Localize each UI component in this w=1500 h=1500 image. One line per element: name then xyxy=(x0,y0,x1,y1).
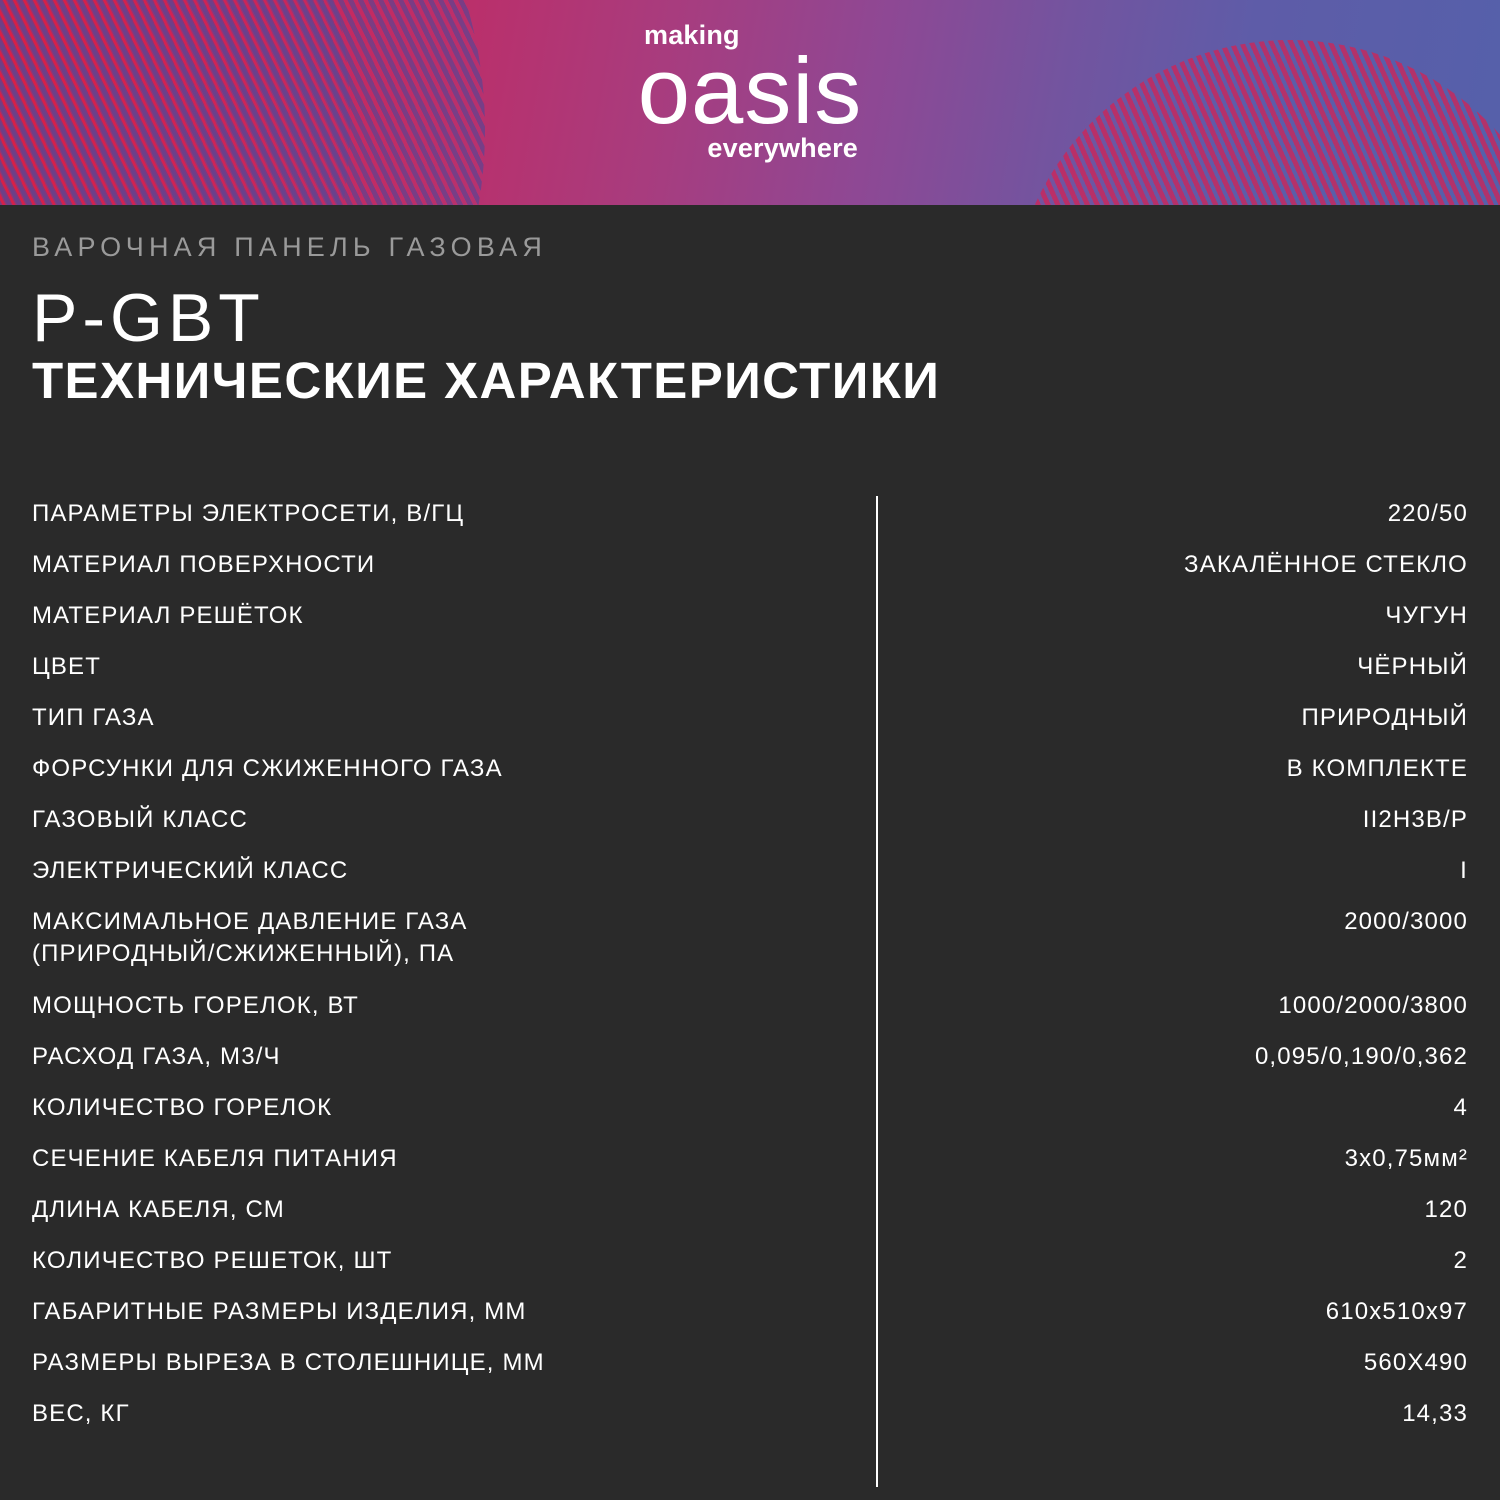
spec-value: 220/50 xyxy=(1388,497,1468,530)
spec-row: ТИП ГАЗАПРИРОДНЫЙ xyxy=(32,701,1468,752)
spec-label: КОЛИЧЕСТВО ГОРЕЛОК xyxy=(32,1091,332,1124)
spec-value: 2 xyxy=(1454,1244,1469,1277)
spec-row: ПАРАМЕТРЫ ЭЛЕКТРОСЕТИ, В/ГЦ220/50 xyxy=(32,497,1468,548)
striped-arc-right-decoration xyxy=(1010,40,1500,205)
spec-row: ЦВЕТЧЁРНЫЙ xyxy=(32,650,1468,701)
spec-value: 560X490 xyxy=(1364,1346,1468,1379)
spec-value: 0,095/0,190/0,362 xyxy=(1255,1040,1468,1073)
spec-label: ВЕС, КГ xyxy=(32,1397,130,1430)
title-block: ВАРОЧНАЯ ПАНЕЛЬ ГАЗОВАЯ P-GBT ТЕХНИЧЕСКИ… xyxy=(32,232,1432,407)
spec-label: МОЩНОСТЬ ГОРЕЛОК, ВТ xyxy=(32,989,359,1022)
spec-label: ЭЛЕКТРИЧЕСКИЙ КЛАСС xyxy=(32,854,348,887)
spec-label: СЕЧЕНИЕ КАБЕЛЯ ПИТАНИЯ xyxy=(32,1142,398,1175)
spec-value: ЧЁРНЫЙ xyxy=(1357,650,1468,683)
spec-label: КОЛИЧЕСТВО РЕШЕТОК, ШТ xyxy=(32,1244,392,1277)
spec-row: ФОРСУНКИ ДЛЯ СЖИЖЕННОГО ГАЗАВ КОМПЛЕКТЕ xyxy=(32,752,1468,803)
spec-label: ТИП ГАЗА xyxy=(32,701,155,734)
spec-value: В КОМПЛЕКТЕ xyxy=(1287,752,1468,785)
spec-row: РАСХОД ГАЗА, М3/Ч0,095/0,190/0,362 xyxy=(32,1040,1468,1091)
spec-value: 3x0,75мм² xyxy=(1345,1142,1468,1175)
spec-row: КОЛИЧЕСТВО РЕШЕТОК, ШТ2 xyxy=(32,1244,1468,1295)
spec-row: ЭЛЕКТРИЧЕСКИЙ КЛАССI xyxy=(32,854,1468,905)
brand-banner: making oasis everywhere xyxy=(0,0,1500,205)
oasis-logo: making oasis everywhere xyxy=(600,22,900,162)
spec-label: ДЛИНА КАБЕЛЯ, СМ xyxy=(32,1193,285,1226)
page-title: ТЕХНИЧЕСКИЕ ХАРАКТЕРИСТИКИ xyxy=(32,355,1432,407)
spec-value: 120 xyxy=(1425,1193,1469,1226)
striped-arc-left-inner-decoration xyxy=(0,0,350,205)
spec-row: МОЩНОСТЬ ГОРЕЛОК, ВТ1000/2000/3800 xyxy=(32,989,1468,1040)
specifications-table: ПАРАМЕТРЫ ЭЛЕКТРОСЕТИ, В/ГЦ220/50МАТЕРИА… xyxy=(32,497,1468,1448)
spec-label: МАКСИМАЛЬНОЕ ДАВЛЕНИЕ ГАЗА (ПРИРОДНЫЙ/СЖ… xyxy=(32,905,468,971)
spec-value: ЗАКАЛЁННОЕ СТЕКЛО xyxy=(1184,548,1468,581)
spec-row: МАКСИМАЛЬНОЕ ДАВЛЕНИЕ ГАЗА (ПРИРОДНЫЙ/СЖ… xyxy=(32,905,1468,989)
spec-label: ПАРАМЕТРЫ ЭЛЕКТРОСЕТИ, В/ГЦ xyxy=(32,497,464,530)
spec-value: ПРИРОДНЫЙ xyxy=(1301,701,1468,734)
spec-row: РАЗМЕРЫ ВЫРЕЗА В СТОЛЕШНИЦЕ, ММ560X490 xyxy=(32,1346,1468,1397)
spec-row: СЕЧЕНИЕ КАБЕЛЯ ПИТАНИЯ3x0,75мм² xyxy=(32,1142,1468,1193)
spec-value: 4 xyxy=(1454,1091,1469,1124)
spec-row: КОЛИЧЕСТВО ГОРЕЛОК4 xyxy=(32,1091,1468,1142)
spec-row: ДЛИНА КАБЕЛЯ, СМ120 xyxy=(32,1193,1468,1244)
spec-value: 610x510x97 xyxy=(1326,1295,1468,1328)
spec-label: РАСХОД ГАЗА, М3/Ч xyxy=(32,1040,281,1073)
spec-value: ЧУГУН xyxy=(1385,599,1468,632)
spec-value: I xyxy=(1460,854,1468,887)
product-category-label: ВАРОЧНАЯ ПАНЕЛЬ ГАЗОВАЯ xyxy=(32,232,1432,263)
spec-sheet-page: making oasis everywhere ВАРОЧНАЯ ПАНЕЛЬ … xyxy=(0,0,1500,1500)
product-model-name: P-GBT xyxy=(32,286,1432,351)
spec-value: 14,33 xyxy=(1402,1397,1468,1430)
spec-value: II2H3B/P xyxy=(1363,803,1468,836)
spec-label: РАЗМЕРЫ ВЫРЕЗА В СТОЛЕШНИЦЕ, ММ xyxy=(32,1346,545,1379)
spec-label: ФОРСУНКИ ДЛЯ СЖИЖЕННОГО ГАЗА xyxy=(32,752,503,785)
spec-label: МАТЕРИАЛ ПОВЕРХНОСТИ xyxy=(32,548,375,581)
logo-wordmark: oasis xyxy=(600,45,900,137)
spec-row: ГАБАРИТНЫЕ РАЗМЕРЫ ИЗДЕЛИЯ, ММ610x510x97 xyxy=(32,1295,1468,1346)
spec-label: ГАБАРИТНЫЕ РАЗМЕРЫ ИЗДЕЛИЯ, ММ xyxy=(32,1295,527,1328)
spec-label: ЦВЕТ xyxy=(32,650,101,683)
spec-label: ГАЗОВЫЙ КЛАСС xyxy=(32,803,248,836)
spec-value: 1000/2000/3800 xyxy=(1278,989,1468,1022)
striped-arc-left-decoration xyxy=(0,0,485,205)
spec-row: МАТЕРИАЛ РЕШЁТОКЧУГУН xyxy=(32,599,1468,650)
spec-label: МАТЕРИАЛ РЕШЁТОК xyxy=(32,599,304,632)
spec-row: МАТЕРИАЛ ПОВЕРХНОСТИЗАКАЛЁННОЕ СТЕКЛО xyxy=(32,548,1468,599)
spec-value: 2000/3000 xyxy=(1344,905,1468,938)
spec-row: ГАЗОВЫЙ КЛАССII2H3B/P xyxy=(32,803,1468,854)
spec-row: ВЕС, КГ14,33 xyxy=(32,1397,1468,1448)
